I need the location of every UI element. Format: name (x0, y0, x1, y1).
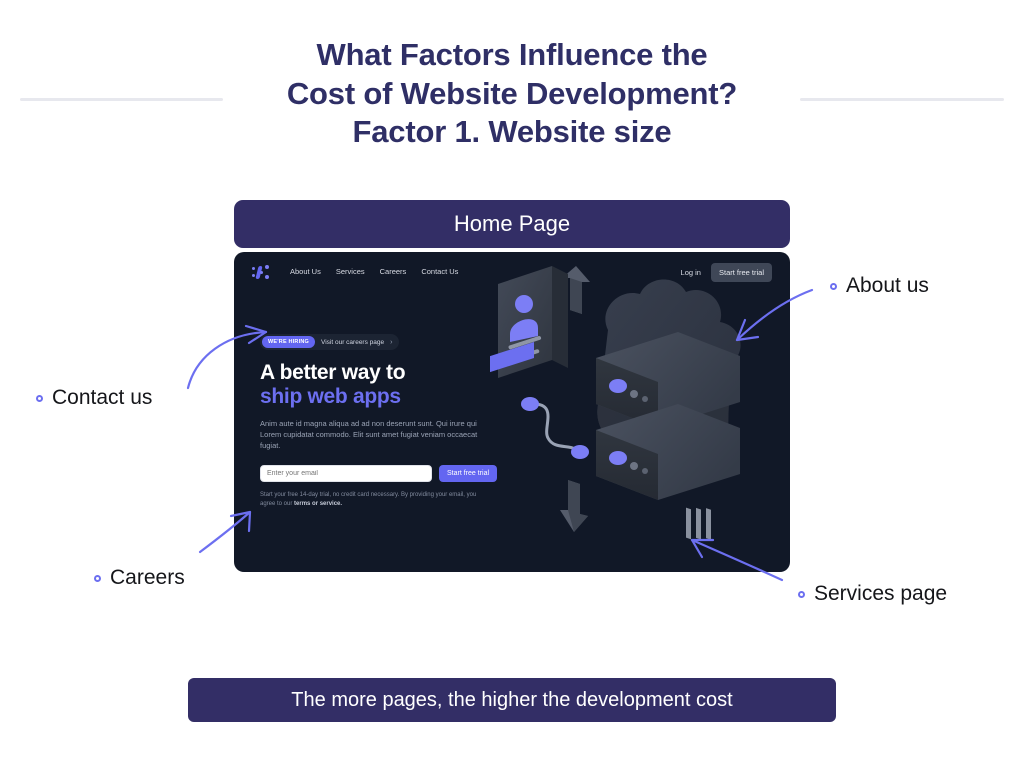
ring-bullet-icon (36, 395, 43, 402)
ring-bullet-icon (94, 575, 101, 582)
page-title-line-2: Cost of Website Development? (0, 75, 1024, 114)
hero-headline: A better way to ship web apps (260, 361, 510, 409)
nav-link-careers[interactable]: Careers (380, 267, 407, 277)
nav-start-free-trial-button[interactable]: Start free trial (711, 263, 772, 282)
page-title-line-1: What Factors Influence the (0, 36, 1024, 75)
callout-contact-us: Contact us (36, 386, 152, 410)
chevron-right-icon: › (390, 339, 392, 346)
nav-link-contact-us[interactable]: Contact Us (421, 267, 458, 277)
ring-bullet-icon (830, 283, 837, 290)
website-mockup: About Us Services Careers Contact Us Log… (234, 252, 790, 572)
login-link[interactable]: Log in (681, 268, 701, 277)
bottom-banner: The more pages, the higher the developme… (188, 678, 836, 722)
hero-paragraph: Anim aute id magna aliqua ad ad non dese… (260, 418, 496, 451)
hiring-badge: WE'RE HIRING (262, 336, 315, 348)
hero-section: WE'RE HIRING Visit our careers page › A … (260, 330, 510, 508)
bottom-banner-label: The more pages, the higher the developme… (291, 690, 732, 710)
nav-actions: Log in Start free trial (681, 263, 772, 282)
hero-fineprint: Start your free 14-day trial, no credit … (260, 491, 492, 508)
nav-link-services[interactable]: Services (336, 267, 365, 277)
hero-start-free-trial-button[interactable]: Start free trial (439, 465, 497, 482)
callout-services-page: Services page (798, 582, 947, 606)
arrow-down-icon (560, 480, 588, 532)
callout-about-us: About us (830, 274, 929, 298)
hero-signup-form: Start free trial (260, 465, 510, 482)
hero-hiring-pill[interactable]: WE'RE HIRING Visit our careers page › (260, 334, 399, 350)
page-title-line-3: Factor 1. Website size (0, 113, 1024, 152)
divider-right (800, 98, 1004, 101)
callout-careers: Careers (94, 566, 185, 590)
callout-careers-label: Careers (110, 566, 185, 590)
home-page-banner: Home Page (234, 200, 790, 248)
callout-contact-us-label: Contact us (52, 386, 152, 410)
home-page-banner-label: Home Page (454, 213, 570, 235)
dot-cluster-logo-icon (252, 263, 272, 281)
nav-links: About Us Services Careers Contact Us (290, 267, 458, 277)
divider-left (20, 98, 223, 101)
connector-path (521, 397, 589, 459)
isometric-cloud-servers-illustration (490, 252, 790, 572)
hero-fineprint-text: Start your free 14-day trial, no credit … (260, 492, 476, 507)
terms-of-service-link[interactable]: terms or service. (294, 501, 342, 507)
ring-bullet-icon (798, 591, 805, 598)
hero-headline-line-1: A better way to (260, 361, 405, 384)
email-input[interactable] (260, 465, 432, 482)
callout-about-us-label: About us (846, 274, 929, 298)
server-rack-bottom (596, 404, 740, 540)
nav-link-about-us[interactable]: About Us (290, 267, 321, 277)
hiring-link: Visit our careers page (321, 339, 384, 346)
hero-headline-line-2: ship web apps (260, 385, 510, 409)
callout-services-page-label: Services page (814, 582, 947, 606)
page-title: What Factors Influence the Cost of Websi… (0, 36, 1024, 152)
mockup-navbar: About Us Services Careers Contact Us Log… (234, 252, 790, 292)
